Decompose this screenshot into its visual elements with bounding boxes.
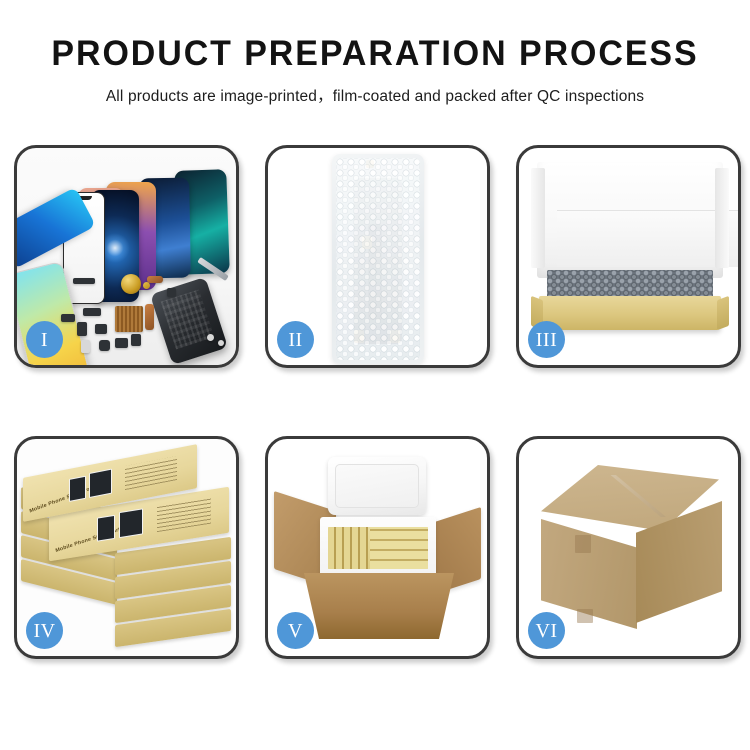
page-subtitle: All products are image-printed，film-coat…: [0, 84, 750, 106]
bubble-wrap-bag-icon: [332, 154, 424, 364]
spare-part-icon: [99, 340, 110, 351]
carton-tape-icon: [575, 535, 591, 553]
spare-part-icon: [61, 314, 75, 322]
box-product-photo-icon: [97, 515, 115, 542]
spare-part-icon: [73, 278, 95, 284]
box-spec-lines-icon: [157, 498, 211, 533]
carton-body-icon: [304, 573, 454, 639]
spare-part-icon: [95, 324, 107, 334]
step-badge-4: IV: [26, 612, 63, 649]
logic-board-icon: [115, 306, 143, 332]
screw-icon: [143, 282, 150, 289]
spare-part-icon: [115, 338, 128, 348]
taptic-engine-icon: [121, 274, 141, 294]
step-panel-4: Mobile Phone Spare Parts Mobile Phone Sp…: [14, 436, 239, 659]
spare-part-icon: [147, 276, 163, 283]
header: PRODUCT PREPARATION PROCESS All products…: [0, 0, 750, 106]
step-badge-3: III: [528, 321, 565, 358]
step-badge-6: VI: [528, 612, 565, 649]
step-panel-5: V: [265, 436, 490, 659]
screw-icon: [218, 340, 224, 346]
box-spec-lines-icon: [125, 456, 177, 490]
bubble-texture-icon: [336, 158, 420, 360]
spare-part-icon: [81, 340, 90, 353]
white-foam-lid-icon: [537, 162, 723, 278]
yellow-boxes-bundle-icon: [328, 527, 428, 569]
flex-cable-icon: [145, 304, 154, 330]
box-product-photo-icon: [69, 476, 86, 502]
spare-part-icon: [131, 334, 141, 346]
step-panel-1: I: [14, 145, 239, 368]
foam-band-icon: [557, 210, 738, 267]
product-preparation-infographic: PRODUCT PREPARATION PROCESS All products…: [0, 0, 750, 750]
spare-part-icon: [167, 288, 176, 297]
screw-icon: [207, 334, 214, 341]
spare-part-icon: [77, 322, 87, 336]
page-title: PRODUCT PREPARATION PROCESS: [11, 36, 739, 71]
step-panel-2: II: [265, 145, 490, 368]
process-steps-grid: I II: [14, 145, 736, 659]
carton-tape-icon: [577, 609, 593, 623]
step-panel-3: III: [516, 145, 741, 368]
step-panel-6: VI: [516, 436, 741, 659]
box-product-photo-icon: [89, 469, 112, 498]
kraft-tray-box-icon: [539, 296, 721, 330]
foam-cooler-lid-icon: [328, 457, 426, 515]
box-product-photo-icon: [119, 508, 143, 538]
step-badge-1: I: [26, 321, 63, 358]
spare-part-icon: [83, 308, 101, 316]
step-badge-5: V: [277, 612, 314, 649]
step-badge-2: II: [277, 321, 314, 358]
